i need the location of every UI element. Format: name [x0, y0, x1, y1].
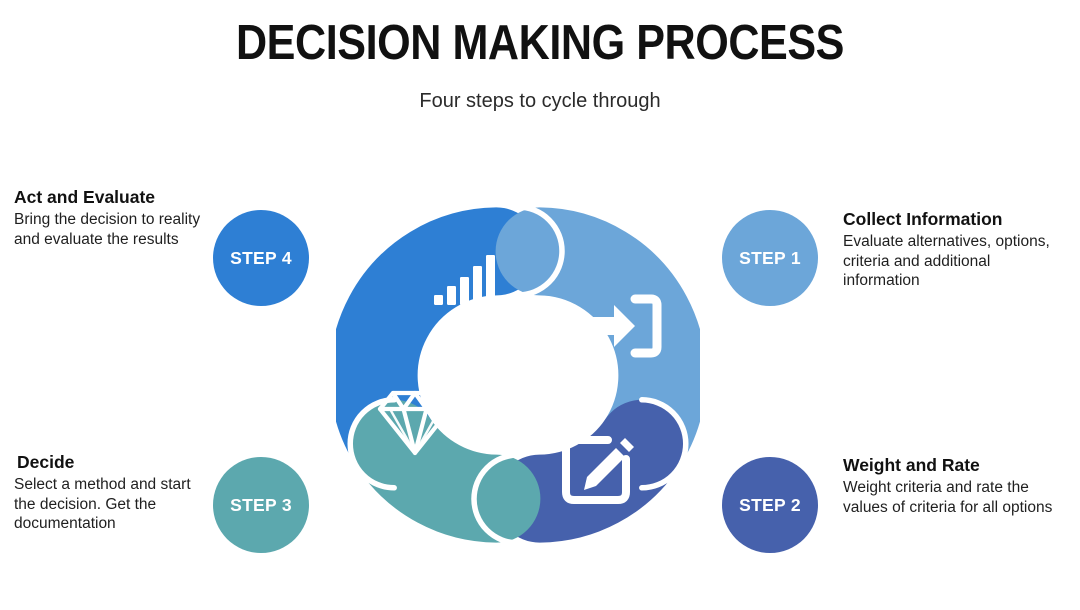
step-heading-decide: Decide: [14, 451, 204, 473]
step-text-collect-information: Collect Information Evaluate alternative…: [843, 208, 1069, 291]
step-description-act-and-evaluate: Bring the decision to reality and evalua…: [14, 210, 204, 249]
step-heading-act-and-evaluate: Act and Evaluate: [14, 186, 204, 208]
step-badge-2[interactable]: STEP 2: [722, 457, 818, 553]
infographic-canvas: DECISION MAKING PROCESS Four steps to cy…: [0, 0, 1080, 610]
step-badge-2-label: STEP 2: [739, 495, 801, 516]
page-title: DECISION MAKING PROCESS: [65, 14, 1015, 72]
step-badge-3-label: STEP 3: [230, 495, 292, 516]
step-description-weight-and-rate: Weight criteria and rate the values of c…: [843, 478, 1065, 517]
step-badge-1-label: STEP 1: [739, 248, 801, 269]
step-badge-4-label: STEP 4: [230, 248, 292, 269]
page-subtitle: Four steps to cycle through: [0, 88, 1080, 114]
step-text-weight-and-rate: Weight and Rate Weight criteria and rate…: [843, 454, 1065, 517]
step-text-decide: Decide Select a method and start the dec…: [14, 451, 204, 534]
step-badge-4[interactable]: STEP 4: [213, 210, 309, 306]
step-badge-3[interactable]: STEP 3: [213, 457, 309, 553]
step-description-decide: Select a method and start the decision. …: [14, 475, 204, 534]
step-description-collect-information: Evaluate alternatives, options, criteria…: [843, 232, 1069, 291]
step-heading-collect-information: Collect Information: [843, 208, 1069, 230]
step-badge-1[interactable]: STEP 1: [722, 210, 818, 306]
step-text-act-and-evaluate: Act and Evaluate Bring the decision to r…: [14, 186, 204, 249]
decision-cycle-donut-chart: [336, 193, 700, 557]
step-heading-weight-and-rate: Weight and Rate: [843, 454, 1065, 476]
